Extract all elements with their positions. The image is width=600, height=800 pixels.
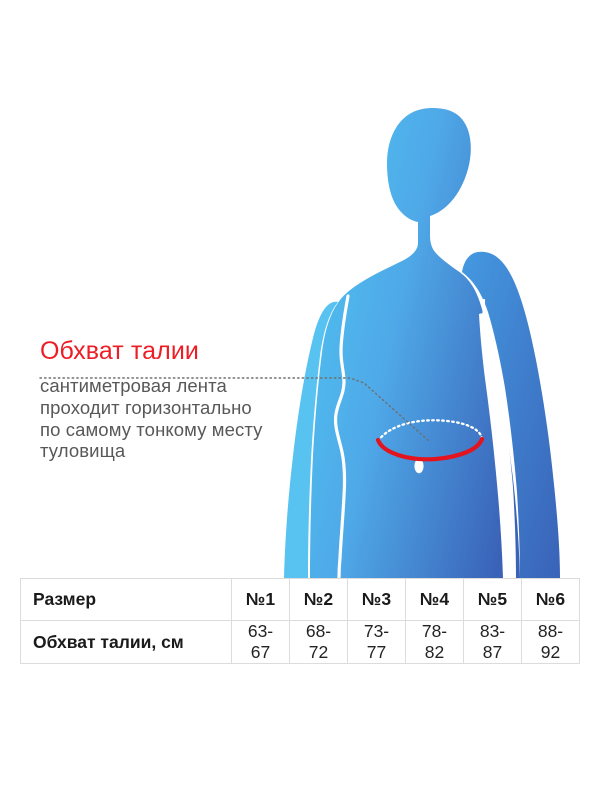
callout-description-line-4: туловища <box>40 440 340 462</box>
waist-measurement-infographic: Обхват талии сантиметровая лента проходи… <box>0 0 600 800</box>
navel-marker <box>414 459 423 473</box>
waist-tape-front-arc <box>378 439 482 459</box>
table-row: Размер №1 №2 №3 №4 №5 №6 <box>21 579 580 621</box>
table-cell-waist-5: 83-87 <box>464 621 522 664</box>
table-cell-size-3: №3 <box>348 579 406 621</box>
size-table: Размер №1 №2 №3 №4 №5 №6 Обхват талии, с… <box>20 578 580 664</box>
right-arm-path <box>462 252 560 578</box>
table-cell-waist-1: 63-67 <box>232 621 290 664</box>
callout-description: сантиметровая лента проходит горизонталь… <box>40 364 340 462</box>
table-cell-size-5: №5 <box>464 579 522 621</box>
table-row-label: Обхват талии, см <box>21 621 232 664</box>
table-cell-waist-2: 68-72 <box>290 621 348 664</box>
callout-title: Обхват талии <box>40 338 340 364</box>
table-cell-waist-3: 73-77 <box>348 621 406 664</box>
table-cell-size-4: №4 <box>406 579 464 621</box>
waist-tape-back-arc <box>378 420 482 441</box>
table-cell-size-6: №6 <box>522 579 580 621</box>
callout-description-line-2: проходит горизонтально <box>40 397 340 419</box>
table-cell-waist-4: 78-82 <box>406 621 464 664</box>
right-armpit-gap <box>479 312 516 578</box>
table-cell-size-1: №1 <box>232 579 290 621</box>
table-cell-waist-6: 88-92 <box>522 621 580 664</box>
body-silhouette-path <box>310 108 520 578</box>
callout-description-line-1: сантиметровая лента <box>40 375 340 397</box>
right-arm-contour-line <box>483 300 484 356</box>
size-table-container: Размер №1 №2 №3 №4 №5 №6 Обхват талии, с… <box>20 578 580 664</box>
table-row: Обхват талии, см 63-67 68-72 73-77 78-82… <box>21 621 580 664</box>
callout-description-line-3: по самому тонкому месту <box>40 419 340 441</box>
table-row-label: Размер <box>21 579 232 621</box>
waist-callout: Обхват талии сантиметровая лента проходи… <box>40 338 340 462</box>
table-cell-size-2: №2 <box>290 579 348 621</box>
